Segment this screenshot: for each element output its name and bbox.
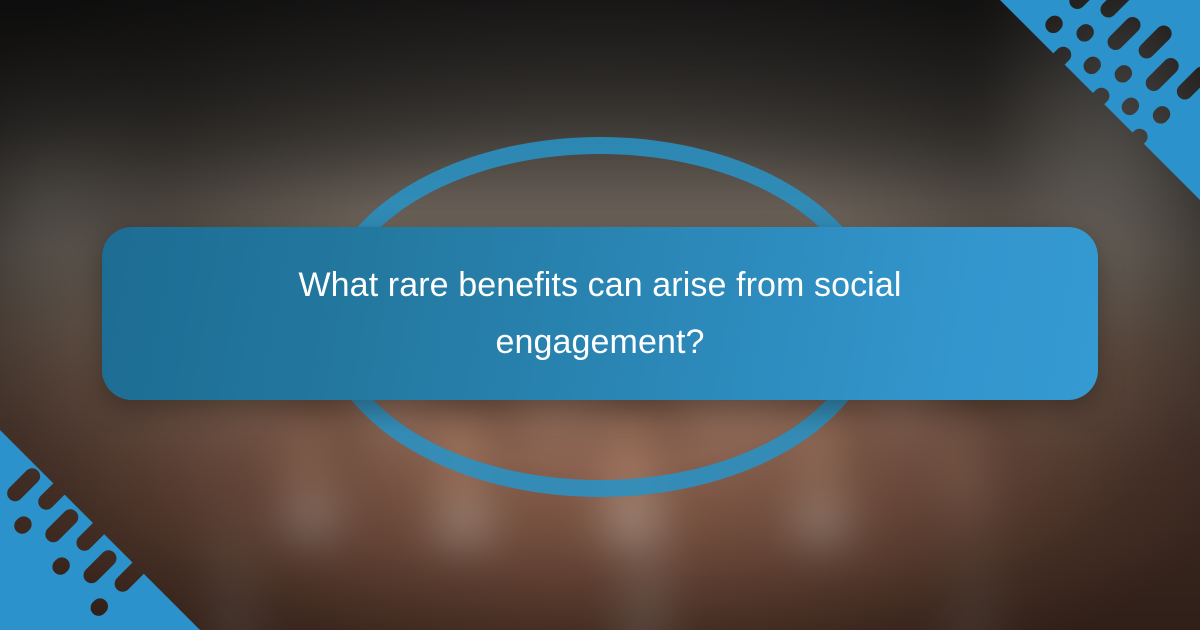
question-text: What rare benefits can arise from social…: [250, 257, 950, 371]
screenshot-canvas: What rare benefits can arise from social…: [0, 0, 1200, 630]
question-card: What rare benefits can arise from social…: [102, 227, 1098, 400]
